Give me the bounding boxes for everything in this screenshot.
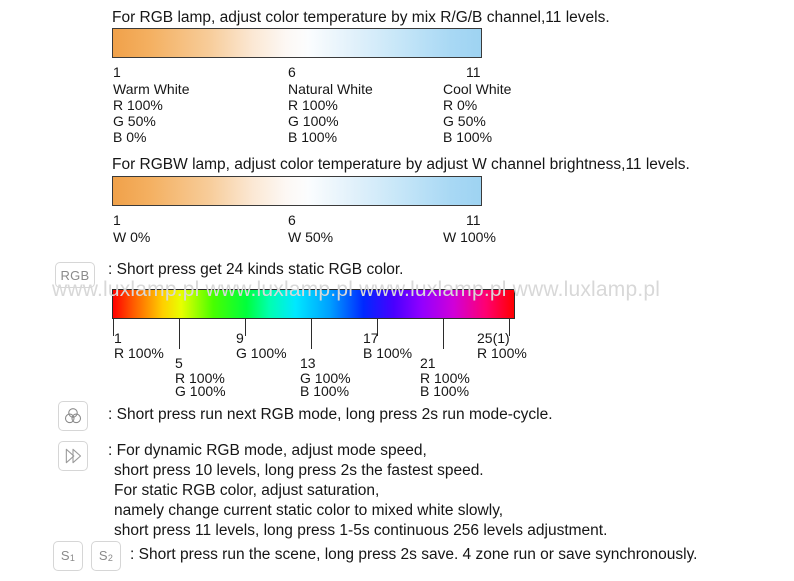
rgb-stop-11-name: Cool White — [443, 81, 511, 98]
rainbow-label-1-line1: R 100% — [114, 345, 164, 362]
rgbw-cct-gradient-bar — [112, 176, 482, 206]
manual-page: For RGB lamp, adjust color temperature b… — [0, 0, 794, 581]
scene-key-s1-label: S1 — [61, 549, 75, 563]
rgb-stop-6-level: 6 — [288, 64, 296, 81]
speed-description-line-4: namely change current static color to mi… — [114, 501, 503, 522]
rainbow-label-9-line1: G 100% — [236, 345, 287, 362]
scene-key-description: : Short press run the scene, long press … — [130, 545, 697, 566]
scene-key-s1-letter: S — [61, 548, 70, 563]
rainbow-tick-9 — [245, 319, 246, 336]
fast-forward-icon — [63, 446, 83, 466]
static-rgb-description: : Short press get 24 kinds static RGB co… — [108, 260, 404, 281]
rainbow-label-5-line2: G 100% — [175, 383, 226, 400]
rgb-key-label: RGB — [60, 269, 89, 282]
scene-key-s1-button[interactable]: S1 — [53, 541, 83, 571]
rgbw-section-heading: For RGBW lamp, adjust color temperature … — [112, 155, 690, 174]
rainbow-label-13-line2: B 100% — [300, 383, 349, 400]
venn-circles-icon — [63, 406, 83, 426]
rainbow-label-21-line2: B 100% — [420, 383, 469, 400]
rgb-stop-1-g: G 50% — [113, 113, 156, 130]
rainbow-tick-5 — [179, 319, 180, 349]
rgbw-stop-11-w: W 100% — [443, 229, 496, 246]
speed-description-line-5: short press 11 levels, long press 1-5s c… — [114, 521, 607, 542]
scene-key-s2-letter: S — [99, 548, 108, 563]
mode-key-description: : Short press run next RGB mode, long pr… — [108, 405, 553, 426]
rgb-stop-11-r: R 0% — [443, 97, 477, 114]
rgb-stop-1-r: R 100% — [113, 97, 163, 114]
rgb-stop-6-r: R 100% — [288, 97, 338, 114]
rgb-stop-11-g: G 50% — [443, 113, 486, 130]
rgbw-stop-1-w: W 0% — [113, 229, 150, 246]
rgb-section-heading: For RGB lamp, adjust color temperature b… — [112, 8, 610, 27]
rgbw-stop-1-level: 1 — [113, 212, 121, 229]
scene-key-s2-button[interactable]: S2 — [91, 541, 121, 571]
rgb-stop-11-b: B 100% — [443, 129, 492, 146]
rgb-stop-1-level: 1 — [113, 64, 121, 81]
rgb-stop-6-g: G 100% — [288, 113, 339, 130]
rainbow-label-25-line1: R 100% — [477, 345, 527, 362]
scene-key-s1-sub: 1 — [70, 553, 75, 563]
rainbow-tick-13 — [311, 319, 312, 349]
speed-description-line-3: For static RGB color, adjust saturation, — [114, 481, 379, 502]
rgb-stop-11-level: 11 — [466, 64, 481, 81]
rgb-stop-1-name: Warm White — [113, 81, 189, 98]
rgb-stop-6-name: Natural White — [288, 81, 373, 98]
speed-key-button[interactable] — [58, 441, 88, 471]
rgb-cct-gradient-bar — [112, 28, 482, 58]
speed-description-line-2: short press 10 levels, long press 2s the… — [114, 461, 484, 482]
rainbow-label-17-line1: B 100% — [363, 345, 412, 362]
rgbw-stop-6-w: W 50% — [288, 229, 333, 246]
rgb-key-button[interactable]: RGB — [55, 262, 95, 288]
rgbw-cct-gradient-fill — [113, 177, 481, 205]
rgbw-stop-6-level: 6 — [288, 212, 296, 229]
scene-key-s2-sub: 2 — [108, 553, 113, 563]
rgb-stop-6-b: B 100% — [288, 129, 337, 146]
static-rgb-rainbow-bar — [112, 289, 515, 319]
mode-key-button[interactable] — [58, 401, 88, 431]
rgbw-stop-11-level: 11 — [466, 212, 481, 229]
rgb-stop-1-b: B 0% — [113, 129, 146, 146]
rainbow-tick-21 — [443, 319, 444, 349]
rgb-cct-gradient-fill — [113, 29, 481, 57]
static-rgb-rainbow-fill — [113, 290, 514, 318]
speed-description-line-1: : For dynamic RGB mode, adjust mode spee… — [108, 441, 427, 462]
scene-key-s2-label: S2 — [99, 549, 113, 563]
